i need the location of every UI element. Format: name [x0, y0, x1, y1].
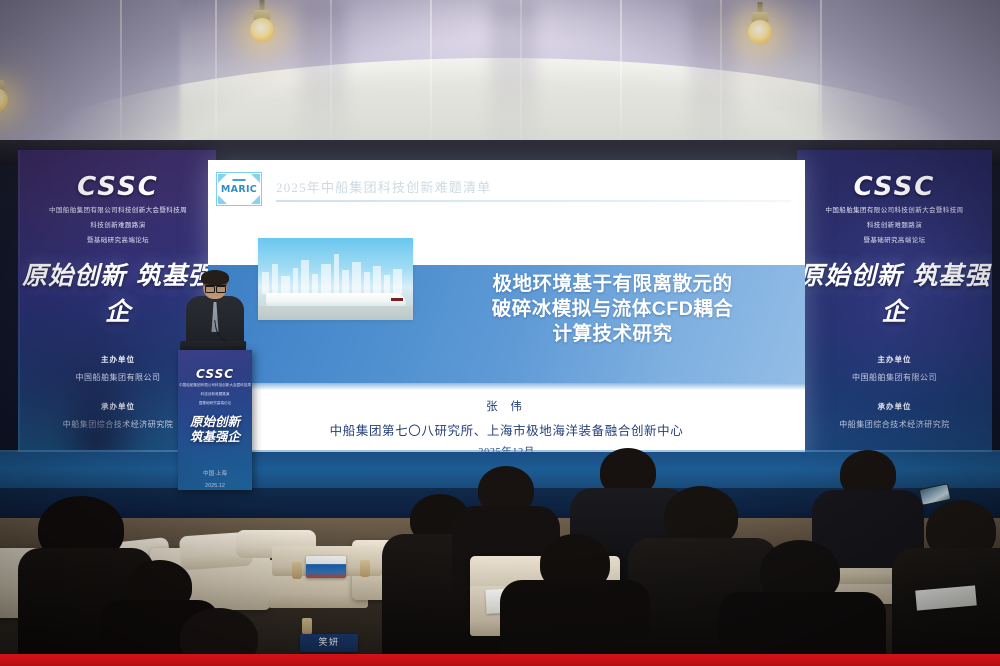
bottom-red-banner: [0, 654, 1000, 666]
backdrop-subline-1: 中国船舶集团有限公司科技创新大会暨科技周: [20, 205, 216, 217]
ship-shape: [266, 293, 406, 306]
podium-date: 2025.12: [178, 481, 252, 490]
slide-title-line-3: 计算技术研究: [436, 322, 789, 347]
slide-header: MARIC 2025年中船集团科技创新难题清单: [216, 168, 791, 210]
projection-screen: MARIC 2025年中船集团科技创新难题清单: [208, 160, 805, 460]
podium-slogan-line-2: 筑基强企: [178, 429, 252, 445]
speaker-shadow: [38, 320, 158, 470]
drape-shadow: [690, 0, 736, 150]
logo-triangle-br: [251, 195, 260, 204]
podium-place: 中国·上海: [178, 469, 252, 479]
water-band: [258, 306, 413, 320]
drape-fold: [120, 0, 122, 152]
maric-logo-text: MARIC: [217, 184, 261, 195]
logo-triangle-bl: [218, 195, 227, 204]
podium-subline-1: 中国船舶集团有限公司科技创新大会暨科技周: [178, 382, 252, 390]
podium-subline-2: 科技创新难题路演: [178, 391, 252, 399]
backdrop-subline-2: 科技创新难题路演: [20, 220, 216, 232]
author-name: 张 伟: [208, 398, 805, 414]
presentation-slide: MARIC 2025年中船集团科技创新难题清单: [208, 160, 805, 460]
maric-logo-icon: MARIC: [216, 172, 262, 206]
drape-fold: [820, 0, 822, 152]
host-label: 主办单位: [797, 354, 992, 365]
backdrop-subline-3: 暨基础研究高端论坛: [20, 235, 216, 247]
organizer-label: 承办单位: [797, 401, 992, 412]
podium-cssc-wordmark: CSSC: [178, 367, 252, 381]
ship-marking: [391, 298, 403, 301]
lamp-bulb: [748, 20, 772, 44]
backdrop-subline-2: 科技创新难题路演: [797, 220, 992, 232]
drape-fold: [430, 0, 432, 152]
host-name: 中国船舶集团有限公司: [797, 372, 992, 383]
paper-cup: [360, 560, 370, 577]
slide-header-title-wrap: 2025年中船集团科技创新难题清单: [276, 177, 791, 202]
speaker-podium: CSSC 中国船舶集团有限公司科技创新大会暨科技周 科技创新难题路演 暨基础研究…: [178, 350, 252, 490]
drape-shadow: [490, 0, 536, 150]
slide-title-line-2: 破碎冰模拟与流体CFD耦合: [436, 297, 789, 322]
backdrop-subline-1: 中国船舶集团有限公司科技创新大会暨科技周: [797, 205, 992, 217]
lamp-bulb: [250, 18, 274, 42]
backdrop-banner-right: CSSC 中国船舶集团有限公司科技创新大会暨科技周 科技创新难题路演 暨基础研究…: [797, 150, 992, 470]
speaker-hair: [201, 270, 229, 285]
organizer-name: 中船集团综合技术经济研究院: [797, 419, 992, 430]
tissue-box: [306, 556, 346, 578]
conference-photo-scene: CSSC 中国船舶集团有限公司科技创新大会暨科技周 科技创新难题路演 暨基础研究…: [0, 0, 1000, 666]
drape-fold: [215, 0, 217, 152]
cssc-wordmark: CSSC: [797, 172, 992, 202]
paper-cup: [292, 562, 302, 579]
logo-triangle-tl: [218, 174, 227, 183]
podium-subline-3: 暨基础研究高端论坛: [178, 400, 252, 408]
backdrop-subline-3: 暨基础研究高端论坛: [797, 235, 992, 247]
logo-triangle-tr: [251, 174, 260, 183]
ceiling-corner-left: [0, 0, 180, 152]
slide-title-line-1: 极地环境基于有限离散元的: [436, 272, 789, 297]
slide-main-title: 极地环境基于有限离散元的 破碎冰模拟与流体CFD耦合 计算技术研究: [436, 272, 789, 347]
paper-cup: [302, 618, 312, 635]
glasses-icon: [205, 285, 226, 290]
logo-tick: [233, 179, 246, 181]
slide-header-rule: [276, 200, 791, 201]
ceiling-drapery: [0, 0, 1000, 152]
drape-fold: [620, 0, 622, 152]
slide-photo-icebreaker: [258, 238, 413, 320]
name-card: 笑妍: [300, 634, 358, 652]
cssc-wordmark: CSSC: [20, 172, 216, 202]
drape-shadow: [300, 0, 346, 150]
backdrop-slogan: 原始创新 筑基强企: [797, 256, 992, 328]
slide-header-title: 2025年中船集团科技创新难题清单: [276, 177, 791, 196]
ceiling-corner-right: [820, 0, 1000, 152]
podium-slogan-line-1: 原始创新: [178, 414, 252, 430]
author-affiliation: 中船集团第七〇八研究所、上海市极地海洋装备融合创新中心: [208, 420, 805, 439]
